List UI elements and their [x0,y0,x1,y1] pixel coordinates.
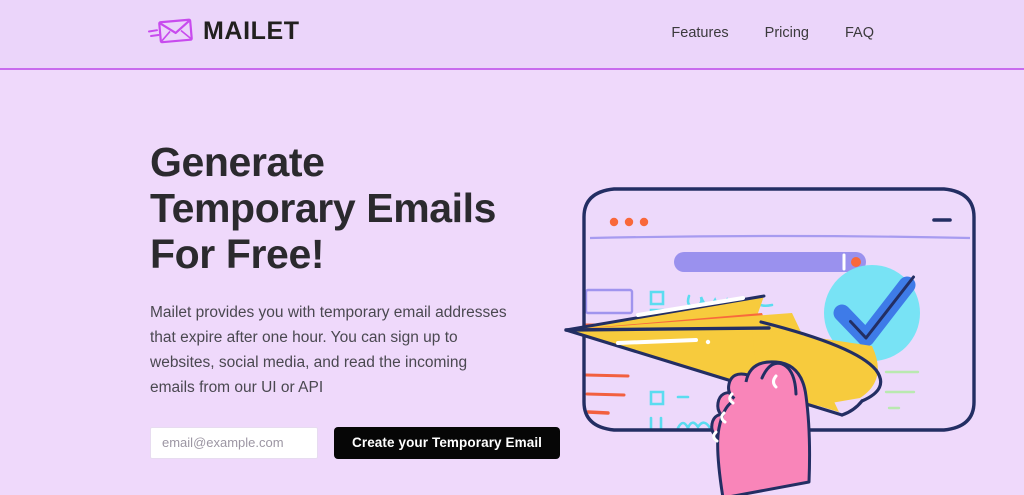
content-line-4 [588,412,608,413]
nav-link-features[interactable]: Features [671,25,728,41]
plane-edge-mid [566,328,769,330]
hero-subtitle: Mailet provides you with temporary email… [150,300,515,401]
site-header: MAILET Features Pricing FAQ [0,0,1024,70]
email-input[interactable] [150,427,318,459]
window-dot-1 [610,218,618,226]
hero-section: Generate Temporary Emails For Free! Mail… [0,70,1024,495]
window-dot-3 [640,218,648,226]
content-line-2 [586,375,628,376]
plane-highlight-dot [706,340,710,344]
landing-page: MAILET Features Pricing FAQ Generate Tem… [0,0,1024,495]
page-title: Generate Temporary Emails For Free! [150,140,540,278]
nav-link-pricing[interactable]: Pricing [765,25,809,41]
brand-logo[interactable]: MAILET [148,16,300,46]
content-line-3 [587,394,624,395]
search-indicator-dot [851,257,861,267]
window-dot-2 [625,218,633,226]
envelope-icon [148,16,194,46]
hero-copy: Generate Temporary Emails For Free! Mail… [150,140,540,459]
brand-name: MAILET [203,19,300,44]
main-navigation: Features Pricing FAQ [671,25,874,41]
signup-form: Create your Temporary Email [150,427,540,459]
search-bar [674,252,866,272]
paper-plane-browser-illustration [556,170,1024,495]
create-temporary-email-button[interactable]: Create your Temporary Email [334,427,560,459]
nav-link-faq[interactable]: FAQ [845,25,874,41]
